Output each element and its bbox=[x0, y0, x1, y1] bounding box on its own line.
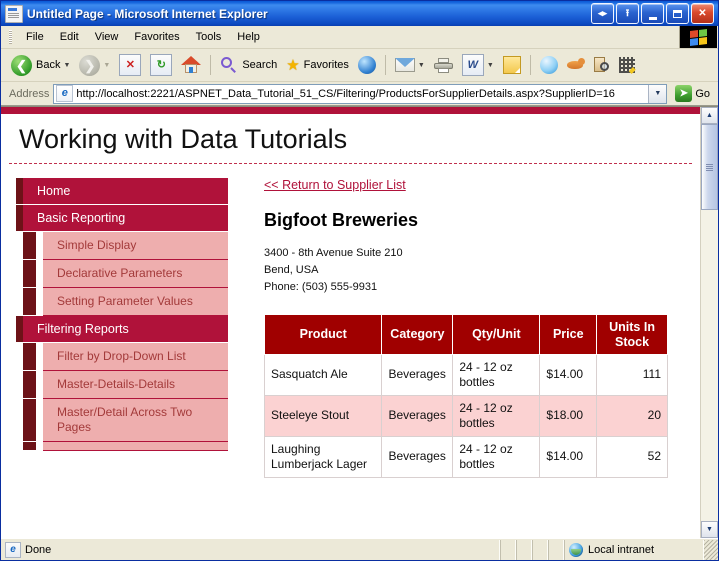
sidebar: Home Basic Reporting Simple Display Decl… bbox=[23, 178, 228, 478]
toolbar-separator-3 bbox=[530, 55, 531, 75]
page-favicon-icon bbox=[56, 85, 73, 102]
mail-icon bbox=[395, 58, 415, 72]
table-row: Sasquatch Ale Beverages 24 - 12 oz bottl… bbox=[265, 354, 668, 395]
address-label: Address bbox=[9, 88, 49, 100]
sidebar-item-label: Simple Display bbox=[57, 238, 136, 252]
address-input[interactable]: http://localhost:2221/ASPNET_Data_Tutori… bbox=[53, 84, 667, 104]
sidebar-item-filter-by-drop-down-list[interactable]: Filter by Drop-Down List bbox=[43, 343, 228, 371]
sidebar-item-label: Declarative Parameters bbox=[57, 266, 182, 280]
return-to-supplier-list-link[interactable]: << Return to Supplier List bbox=[264, 178, 406, 192]
sidebar-item-master-detail-across-two-pages[interactable]: Master/Detail Across Two Pages bbox=[43, 399, 228, 442]
sidebar-item-filtering-reports[interactable]: Filtering Reports bbox=[23, 316, 228, 343]
column-header-product: Product bbox=[265, 315, 382, 355]
sidebar-item-partial[interactable] bbox=[43, 442, 228, 451]
status-slot-2 bbox=[516, 540, 532, 560]
intranet-zone-icon bbox=[569, 543, 583, 557]
expand-window-button[interactable]: ⭱ bbox=[616, 3, 639, 24]
menu-view-label: View bbox=[95, 31, 119, 43]
address-dropdown-icon[interactable]: ▼ bbox=[648, 85, 666, 103]
go-label: Go bbox=[695, 88, 710, 100]
menu-edit[interactable]: Edit bbox=[52, 29, 87, 45]
minimize-icon bbox=[642, 4, 663, 23]
search-button[interactable]: Search bbox=[216, 51, 281, 79]
status-zone-label: Local intranet bbox=[588, 544, 654, 556]
back-icon: ❮ bbox=[11, 55, 32, 76]
home-icon bbox=[181, 56, 201, 74]
scrollbar-thumb[interactable] bbox=[701, 124, 718, 210]
vertical-scrollbar[interactable]: ▲ ▼ bbox=[700, 107, 718, 538]
research-button[interactable] bbox=[590, 51, 614, 79]
status-text: Done bbox=[25, 544, 51, 556]
history-button[interactable] bbox=[354, 51, 380, 79]
close-icon: ✕ bbox=[692, 4, 713, 23]
messenger-icon bbox=[567, 58, 585, 72]
search-label: Search bbox=[242, 59, 277, 71]
cell-units: 111 bbox=[597, 354, 668, 395]
supplier-phone: Phone: (503) 555-9931 bbox=[264, 279, 682, 296]
sidebar-item-label: Master-Details-Details bbox=[57, 377, 175, 391]
toolbar: ❮ Back ▼ ❯ ▼ ✕ ↻ Search ★ Favorites bbox=[1, 49, 718, 82]
status-message: Done bbox=[1, 540, 500, 560]
page-icon bbox=[5, 5, 23, 23]
back-label: Back bbox=[36, 59, 60, 71]
menu-edit-label: Edit bbox=[60, 31, 79, 43]
status-slot-3 bbox=[532, 540, 548, 560]
sidebar-item-label: Basic Reporting bbox=[37, 211, 125, 225]
browser-window: Untitled Page - Microsoft Internet Explo… bbox=[0, 0, 719, 561]
cell-price: $14.00 bbox=[540, 436, 597, 477]
table-row: Laughing Lumberjack Lager Beverages 24 -… bbox=[265, 436, 668, 477]
cell-product: Sasquatch Ale bbox=[265, 354, 382, 395]
menu-file[interactable]: File bbox=[18, 29, 52, 45]
forward-icon: ❯ bbox=[79, 55, 100, 76]
menu-help[interactable]: Help bbox=[229, 29, 268, 45]
restore-pane-icon: ◂▸ bbox=[592, 4, 613, 23]
go-button[interactable]: ➤ Go bbox=[671, 84, 714, 104]
stop-button[interactable]: ✕ bbox=[115, 51, 145, 79]
status-slot-4 bbox=[548, 540, 564, 560]
status-zone[interactable]: Local intranet bbox=[564, 540, 704, 560]
status-page-icon bbox=[5, 542, 21, 558]
products-table: Product Category Qty/Unit Price Units In… bbox=[264, 314, 668, 478]
windows-logo-icon bbox=[679, 26, 717, 48]
edit-button[interactable]: W ▼ bbox=[458, 51, 498, 79]
title-bar: Untitled Page - Microsoft Internet Explo… bbox=[1, 1, 718, 26]
resize-grip[interactable] bbox=[704, 540, 718, 560]
encarta-icon bbox=[619, 57, 635, 73]
scroll-up-button[interactable]: ▲ bbox=[701, 107, 718, 124]
supplier-name: Bigfoot Breweries bbox=[264, 210, 682, 231]
forward-button[interactable]: ❯ ▼ bbox=[75, 51, 114, 79]
status-slot-1 bbox=[500, 540, 516, 560]
restore-pane-button[interactable]: ◂▸ bbox=[591, 3, 614, 24]
refresh-button[interactable]: ↻ bbox=[146, 51, 176, 79]
refresh-icon: ↻ bbox=[150, 54, 172, 76]
sidebar-item-label: Setting Parameter Values bbox=[57, 294, 193, 308]
cell-units: 20 bbox=[597, 395, 668, 436]
sidebar-item-label: Master/Detail Across Two Pages bbox=[57, 405, 192, 434]
column-header-units-in-stock: Units In Stock bbox=[597, 315, 668, 355]
supplier-address-line2: Bend, USA bbox=[264, 262, 682, 279]
address-url-text: http://localhost:2221/ASPNET_Data_Tutori… bbox=[76, 88, 648, 100]
back-dropdown-icon[interactable]: ▼ bbox=[63, 62, 70, 69]
favorites-label: Favorites bbox=[304, 59, 349, 71]
toolbar-separator-2 bbox=[385, 55, 386, 75]
minimize-button[interactable] bbox=[641, 3, 664, 24]
menu-favorites[interactable]: Favorites bbox=[126, 29, 187, 45]
page-area: Working with Data Tutorials Home Basic R… bbox=[1, 106, 718, 538]
cell-product: Laughing Lumberjack Lager bbox=[265, 436, 382, 477]
research-icon bbox=[594, 57, 610, 74]
maximize-icon bbox=[667, 4, 688, 23]
cell-category: Beverages bbox=[382, 354, 453, 395]
mail-button[interactable]: ▼ bbox=[391, 51, 429, 79]
print-button[interactable] bbox=[430, 51, 457, 79]
page-viewport: Working with Data Tutorials Home Basic R… bbox=[1, 107, 700, 538]
cell-units: 52 bbox=[597, 436, 668, 477]
menu-grip[interactable] bbox=[9, 30, 12, 44]
encarta-button[interactable] bbox=[615, 51, 639, 79]
go-arrow-icon: ➤ bbox=[675, 85, 692, 102]
forward-dropdown-icon: ▼ bbox=[103, 62, 110, 69]
column-header-category: Category bbox=[382, 315, 453, 355]
column-header-qty-unit: Qty/Unit bbox=[453, 315, 540, 355]
favorites-star-icon: ★ bbox=[286, 58, 299, 73]
page-content: Home Basic Reporting Simple Display Decl… bbox=[1, 164, 700, 478]
menu-tools[interactable]: Tools bbox=[188, 29, 230, 45]
expand-window-icon: ⭱ bbox=[617, 4, 638, 23]
back-button[interactable]: ❮ Back ▼ bbox=[7, 51, 74, 79]
sidebar-item-master-details-details[interactable]: Master-Details-Details bbox=[43, 371, 228, 399]
stop-icon: ✕ bbox=[119, 54, 141, 76]
notes-button[interactable] bbox=[499, 51, 525, 79]
status-bar: Done Local intranet bbox=[1, 538, 718, 560]
maximize-button[interactable] bbox=[666, 3, 689, 24]
edit-dropdown-icon[interactable]: ▼ bbox=[487, 62, 494, 69]
toolbar-separator bbox=[210, 55, 211, 75]
search-icon bbox=[220, 56, 238, 74]
print-icon bbox=[434, 58, 453, 73]
cell-category: Beverages bbox=[382, 395, 453, 436]
home-button[interactable] bbox=[177, 51, 205, 79]
history-icon bbox=[358, 56, 376, 74]
messenger-button[interactable] bbox=[563, 51, 589, 79]
close-button[interactable]: ✕ bbox=[691, 3, 714, 24]
cell-price: $14.00 bbox=[540, 354, 597, 395]
menu-bar: File Edit View Favorites Tools Help bbox=[1, 26, 718, 49]
sidebar-item-setting-parameter-values[interactable]: Setting Parameter Values bbox=[43, 288, 228, 316]
scrollbar-track[interactable] bbox=[701, 124, 718, 521]
menu-help-label: Help bbox=[237, 31, 260, 43]
page-accent-bar bbox=[1, 107, 700, 114]
sidebar-item-label: Filter by Drop-Down List bbox=[57, 349, 186, 363]
cell-price: $18.00 bbox=[540, 395, 597, 436]
cell-product: Steeleye Stout bbox=[265, 395, 382, 436]
table-row: Steeleye Stout Beverages 24 - 12 oz bott… bbox=[265, 395, 668, 436]
favorites-button[interactable]: ★ Favorites bbox=[282, 51, 353, 79]
menu-file-label: File bbox=[26, 31, 44, 43]
cell-qty: 24 - 12 oz bottles bbox=[453, 395, 540, 436]
page-title: Working with Data Tutorials bbox=[1, 114, 700, 163]
scroll-down-button[interactable]: ▼ bbox=[701, 521, 718, 538]
sidebar-item-simple-display[interactable]: Simple Display bbox=[43, 232, 228, 260]
column-header-price: Price bbox=[540, 315, 597, 355]
sidebar-item-declarative-parameters[interactable]: Declarative Parameters bbox=[43, 260, 228, 288]
cell-qty: 24 - 12 oz bottles bbox=[453, 354, 540, 395]
menu-view[interactable]: View bbox=[87, 29, 127, 45]
sidebar-item-label: Home bbox=[37, 184, 70, 198]
notes-icon bbox=[503, 56, 521, 74]
sidebar-item-basic-reporting[interactable]: Basic Reporting bbox=[23, 205, 228, 232]
table-header-row: Product Category Qty/Unit Price Units In… bbox=[265, 315, 668, 355]
sidebar-item-home[interactable]: Home bbox=[23, 178, 228, 205]
scrollbar-grip-icon bbox=[706, 164, 713, 171]
edit-word-icon: W bbox=[462, 54, 484, 76]
window-controls: ◂▸ ⭱ ✕ bbox=[591, 3, 716, 24]
main-content: << Return to Supplier List Bigfoot Brewe… bbox=[228, 178, 700, 478]
sidebar-item-label: Filtering Reports bbox=[37, 322, 129, 336]
msn-button[interactable] bbox=[536, 51, 562, 79]
supplier-address-line1: 3400 - 8th Avenue Suite 210 bbox=[264, 245, 682, 262]
msn-icon bbox=[540, 56, 558, 74]
cell-qty: 24 - 12 oz bottles bbox=[453, 436, 540, 477]
cell-category: Beverages bbox=[382, 436, 453, 477]
mail-dropdown-icon[interactable]: ▼ bbox=[418, 62, 425, 69]
menu-favorites-label: Favorites bbox=[134, 31, 179, 43]
window-title: Untitled Page - Microsoft Internet Explo… bbox=[27, 7, 591, 21]
menu-tools-label: Tools bbox=[196, 31, 222, 43]
address-bar: Address http://localhost:2221/ASPNET_Dat… bbox=[1, 82, 718, 106]
